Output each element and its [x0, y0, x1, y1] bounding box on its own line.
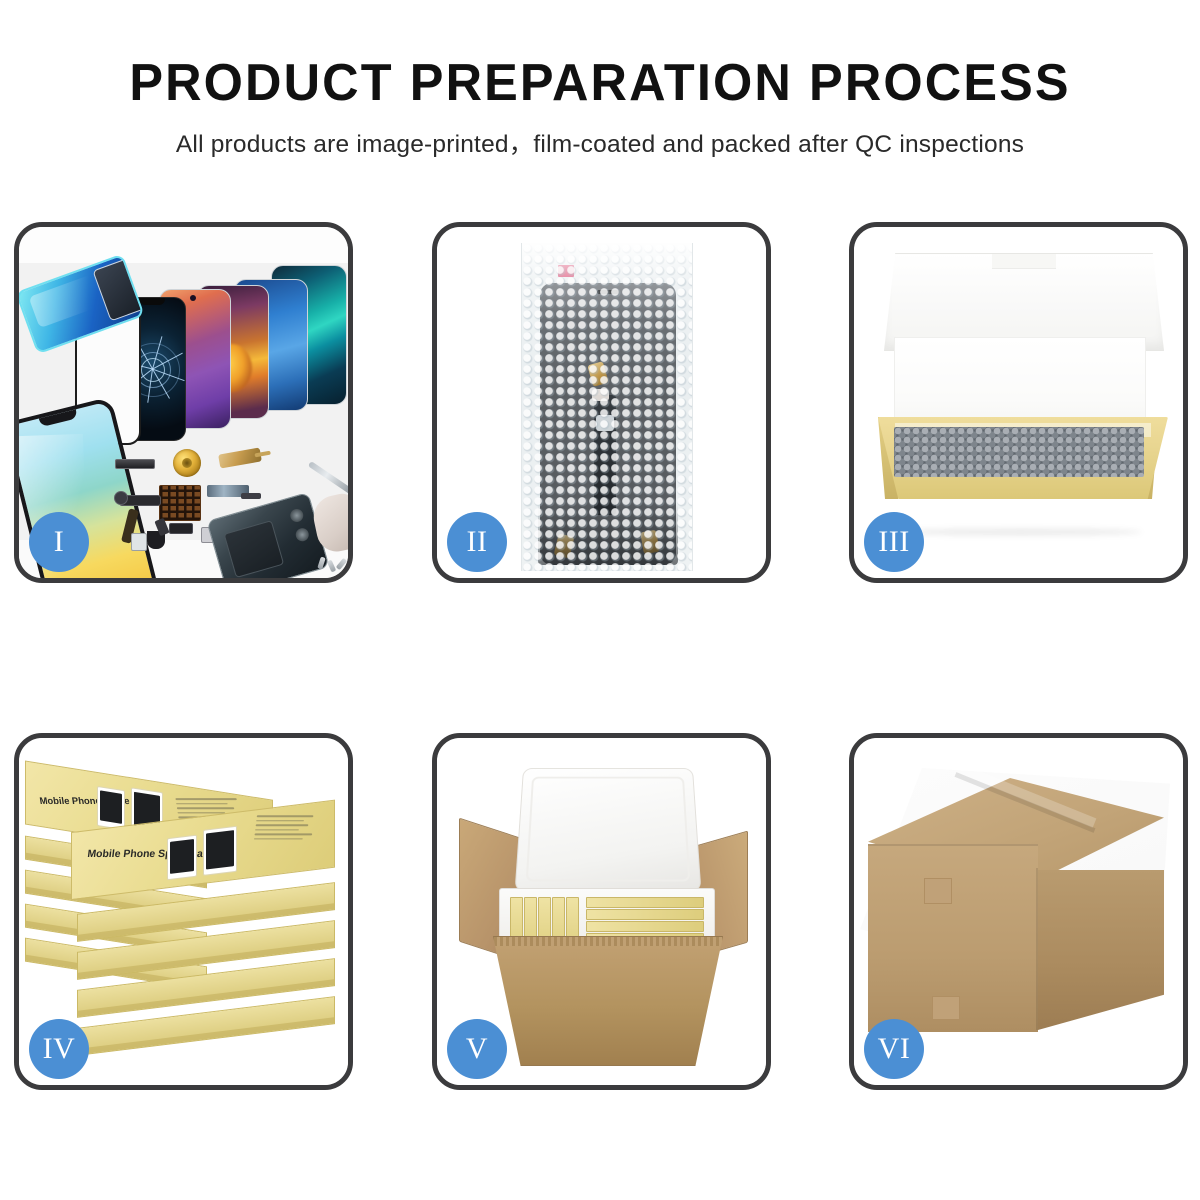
step-panel-2[interactable]: II [432, 222, 771, 583]
corrugation-edge [494, 937, 722, 946]
carton-body [493, 936, 723, 1066]
battery-part [223, 520, 284, 578]
bubble-texture [522, 243, 692, 571]
lid-rim [526, 777, 691, 882]
tape-patch [932, 996, 960, 1020]
bubble-wrap-bag [521, 243, 693, 571]
styrofoam-lid [515, 768, 702, 892]
tweezers-tool [308, 461, 348, 495]
step-panel-4[interactable]: Mobile Phone Spare Parts Mobile Phone Sp… [14, 733, 353, 1090]
scene-top-band [19, 227, 348, 263]
lid-tab [992, 254, 1056, 269]
step-panel-3[interactable]: III [849, 222, 1188, 583]
step-badge-6: VI [864, 1019, 924, 1079]
foam-padding [894, 427, 1144, 477]
retail-box-feature-lines [254, 815, 325, 842]
earpiece-speaker-part [115, 459, 155, 469]
step-badge-5: V [447, 1019, 507, 1079]
camera-module-part [207, 485, 249, 497]
camera-lens-part [289, 507, 305, 523]
step-panel-1[interactable]: 08:08 [14, 222, 353, 583]
front-camera-dot [190, 295, 196, 301]
step-badge-3: III [864, 512, 924, 572]
carton-side-face [1038, 870, 1164, 1030]
flex-cable-part [218, 447, 262, 468]
packed-box [586, 921, 704, 932]
bracket-part [131, 533, 147, 551]
step-badge-2: II [447, 512, 507, 572]
packed-box [586, 897, 704, 908]
page-subtitle: All products are image-printed，film-coat… [0, 125, 1200, 160]
step-panel-5[interactable]: V [432, 733, 771, 1090]
retail-box-brand-label: Mobile Phone Spare Parts [87, 848, 217, 860]
camera-lens-part [294, 527, 310, 543]
header: PRODUCT PREPARATION PROCESS All products… [0, 56, 1200, 160]
wrap-highlight [522, 243, 692, 283]
packed-box [586, 909, 704, 920]
carton-edge-line [868, 844, 1038, 846]
box-shadow [902, 528, 1142, 536]
product-preparation-infographic: PRODUCT PREPARATION PROCESS All products… [0, 0, 1200, 1200]
page-title: PRODUCT PREPARATION PROCESS [18, 56, 1182, 111]
step-badge-4: IV [29, 1019, 89, 1079]
vibration-motor-part [173, 449, 201, 477]
connector-part [169, 523, 193, 534]
tape-patch [924, 878, 952, 904]
screws-group [319, 557, 348, 573]
flex-connector-part [119, 495, 161, 506]
lcd-back-panel [92, 258, 144, 321]
carton-corner-line [1036, 868, 1038, 1030]
step-badge-1: I [29, 512, 89, 572]
step-panel-6[interactable]: VI [849, 733, 1188, 1090]
steps-grid: 08:08 [0, 222, 1200, 1102]
display-notch [39, 409, 78, 427]
logic-board-part [159, 485, 201, 521]
display-notch [139, 298, 165, 305]
phone-chassis-part [206, 492, 329, 578]
